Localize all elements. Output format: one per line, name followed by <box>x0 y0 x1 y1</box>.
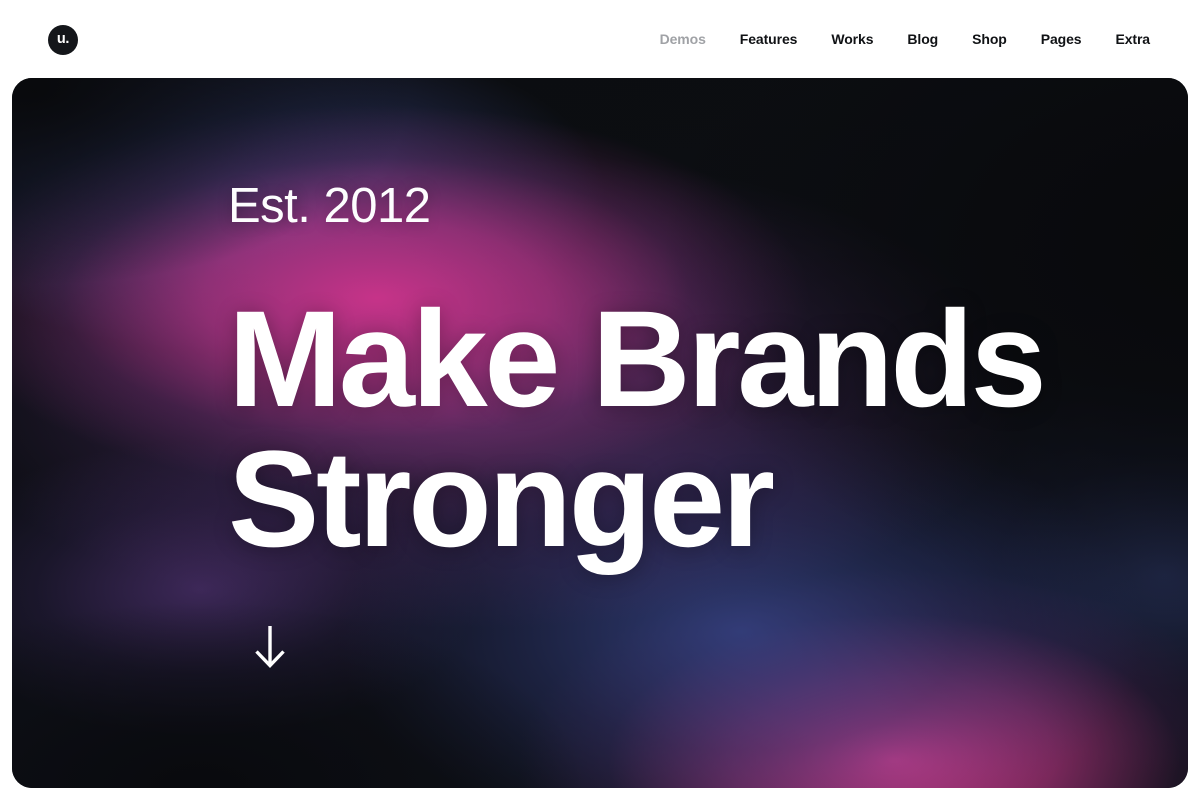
arrow-down-icon[interactable] <box>250 624 290 670</box>
nav-item-shop[interactable]: Shop <box>972 25 1007 53</box>
hero-content: Est. 2012 Make Brands Stronger <box>228 78 1188 788</box>
main-nav: Demos Features Works Blog Shop Pages Ext… <box>660 25 1150 53</box>
nav-item-works[interactable]: Works <box>831 25 873 53</box>
hero-eyebrow: Est. 2012 <box>228 182 431 231</box>
page-root: u. Demos Features Works Blog Shop Pages … <box>0 0 1200 800</box>
circle-logo-icon[interactable]: u. <box>48 25 78 55</box>
page-title: Make Brands Stronger <box>228 290 1043 570</box>
nav-item-blog[interactable]: Blog <box>907 25 938 53</box>
logo-text: u. <box>57 32 69 48</box>
nav-item-pages[interactable]: Pages <box>1041 25 1082 53</box>
hero-title-line-2: Stronger <box>228 430 1043 570</box>
hero-section: Est. 2012 Make Brands Stronger <box>12 78 1188 788</box>
nav-item-features[interactable]: Features <box>740 25 798 53</box>
hero-title-line-1: Make Brands <box>228 290 1043 430</box>
site-header: u. Demos Features Works Blog Shop Pages … <box>0 0 1200 78</box>
nav-item-extra[interactable]: Extra <box>1115 25 1150 53</box>
nav-item-demos[interactable]: Demos <box>660 25 706 53</box>
